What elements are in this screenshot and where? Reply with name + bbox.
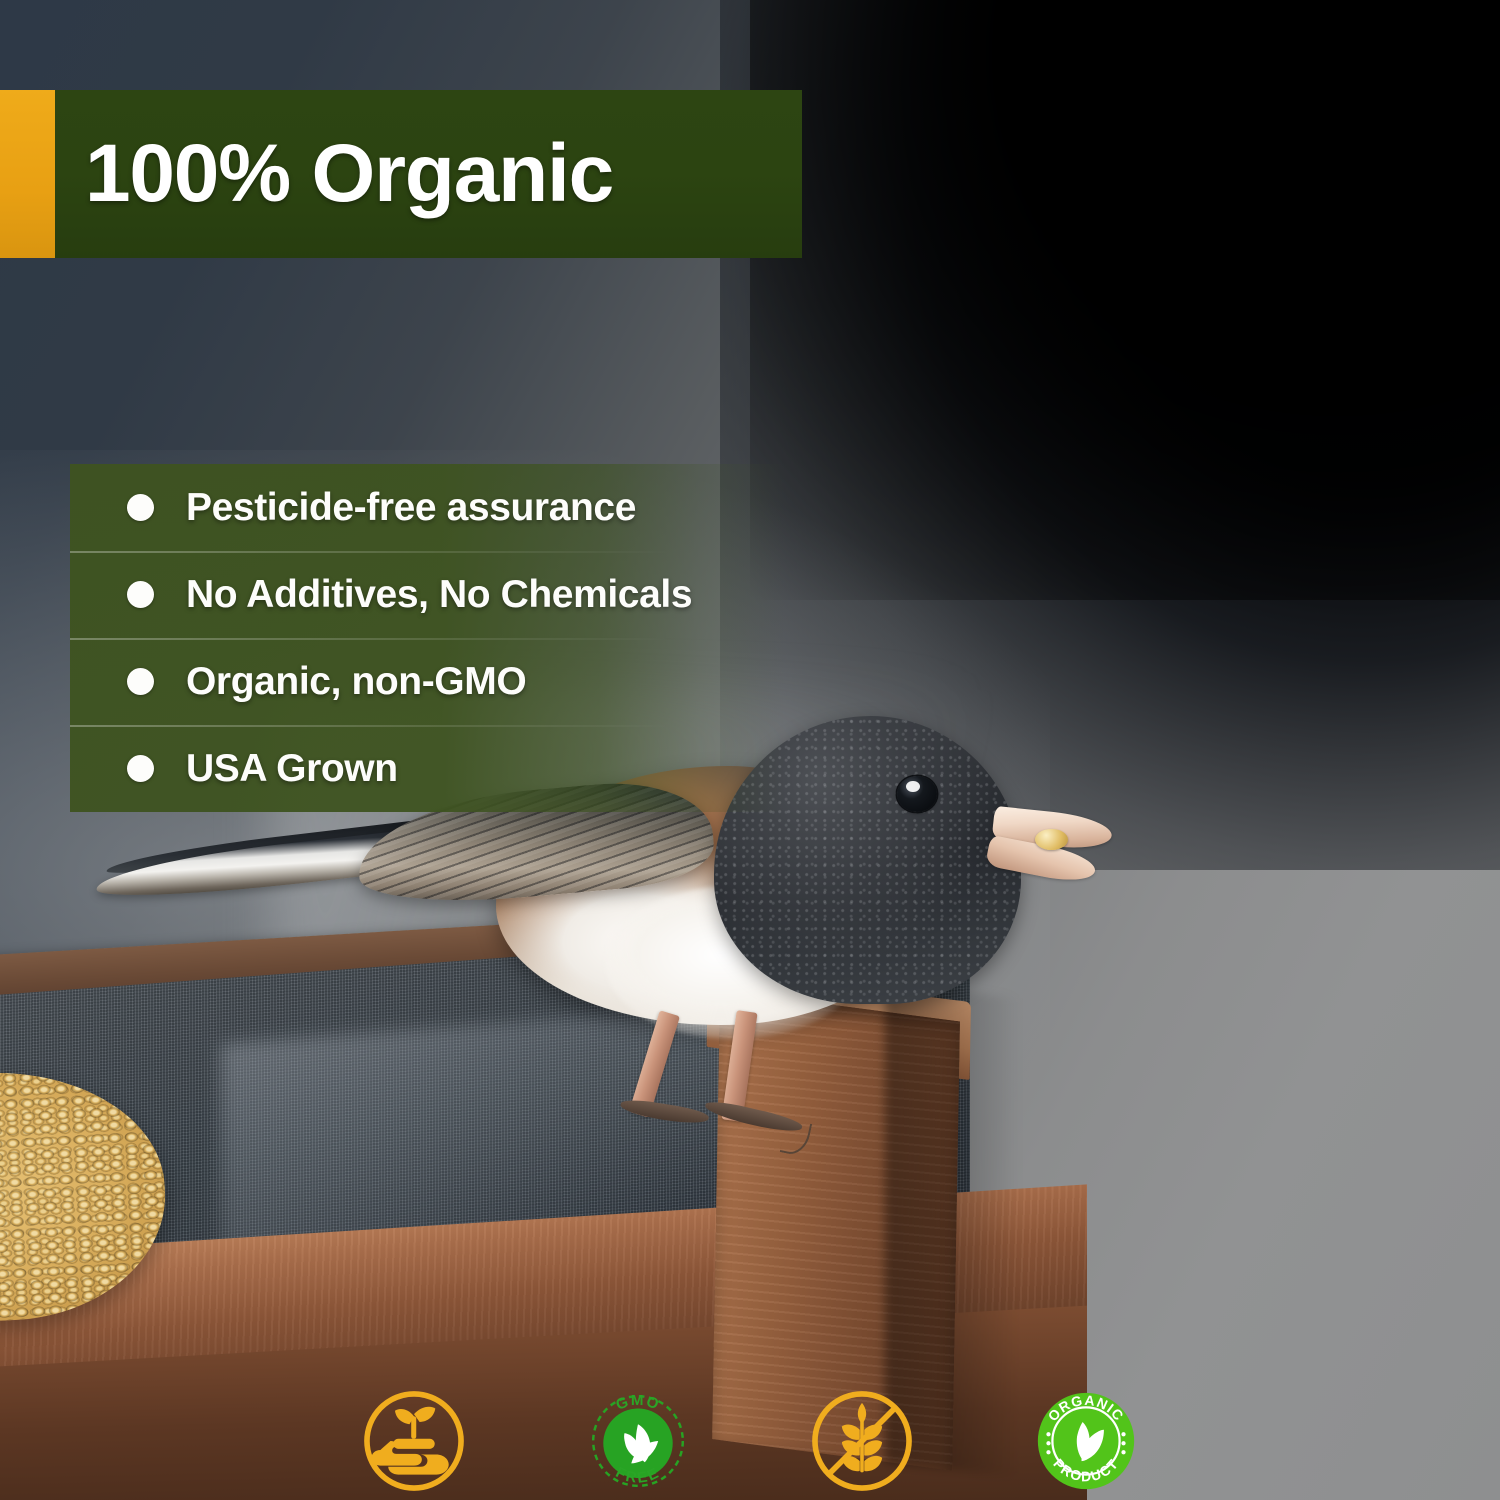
feature-label: Organic, non-GMO	[186, 660, 526, 704]
bullet-dot-icon	[127, 494, 154, 521]
bullet-dot-icon	[127, 581, 154, 608]
feature-item-no-additives: No Additives, No Chemicals	[70, 551, 785, 638]
gluten-free-wheat-icon	[806, 1385, 918, 1497]
bullet-dot-icon	[127, 668, 154, 695]
product-lifestyle-image: 100% Organic Pesticide-free assurance No…	[0, 0, 1500, 1500]
seed-in-beak	[1035, 829, 1068, 850]
feature-label: No Additives, No Chemicals	[186, 573, 692, 617]
certification-badge-strip: GMO FREE	[0, 1382, 1500, 1500]
gmo-free-icon: GMO FREE	[582, 1385, 694, 1497]
feature-item-usa-grown: USA Grown	[70, 725, 785, 812]
feature-item-organic-non-gmo: Organic, non-GMO	[70, 638, 785, 725]
bullet-dot-icon	[127, 755, 154, 782]
header-banner: 100% Organic	[55, 90, 802, 258]
page-title: 100% Organic	[85, 127, 613, 221]
feature-label: Pesticide-free assurance	[186, 486, 636, 530]
feature-label: USA Grown	[186, 747, 398, 791]
hand-holding-sprout-icon	[358, 1385, 470, 1497]
organic-product-seal-icon: ORGANIC PRODUCT	[1030, 1385, 1142, 1497]
feature-list: Pesticide-free assurance No Additives, N…	[70, 464, 785, 812]
header-accent-bar	[0, 90, 55, 258]
feature-item-pesticide-free: Pesticide-free assurance	[70, 464, 785, 551]
bird-eye	[897, 776, 938, 812]
